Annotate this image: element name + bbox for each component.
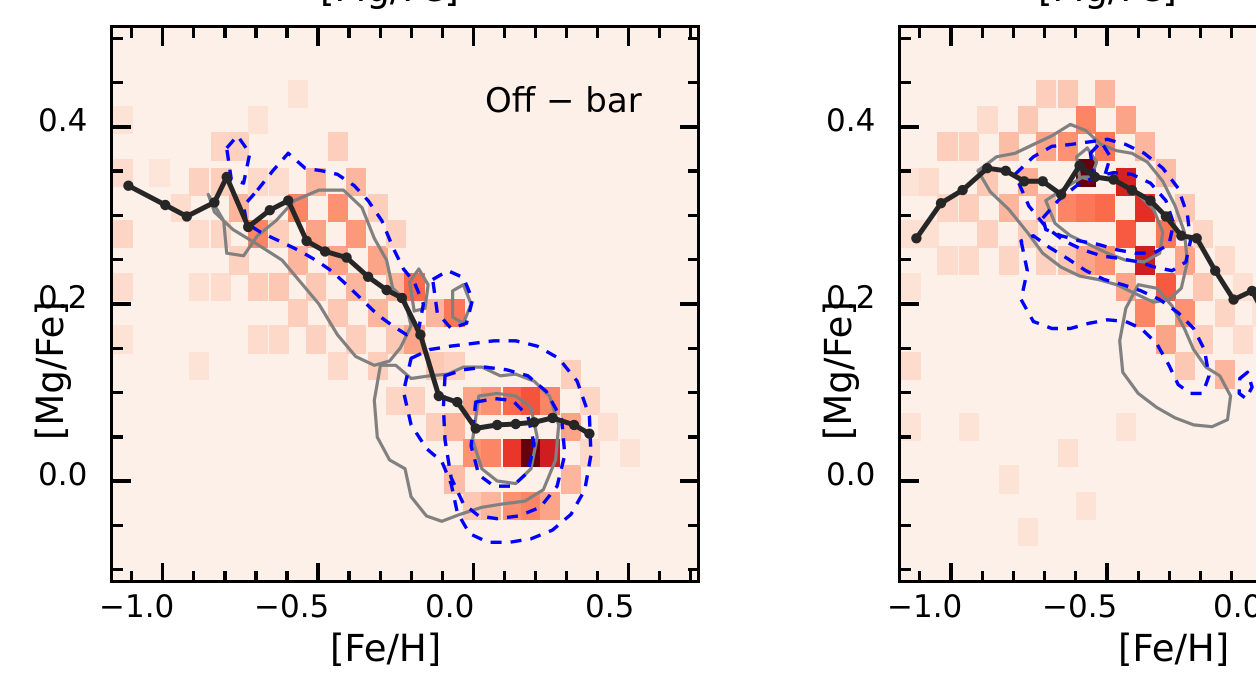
median-marker xyxy=(936,198,946,208)
xtick xyxy=(379,571,382,582)
contour-dashed xyxy=(1239,372,1252,398)
xtick-top xyxy=(347,27,350,38)
ytick xyxy=(900,37,911,40)
xtick xyxy=(534,571,537,582)
xtick-top xyxy=(1074,27,1077,38)
ytick-right xyxy=(688,258,699,261)
median-marker xyxy=(1127,185,1137,195)
xtick-top xyxy=(1199,27,1202,38)
median-marker xyxy=(434,391,444,401)
median-marker xyxy=(492,420,502,430)
ytick xyxy=(112,169,123,172)
ytick-right xyxy=(688,391,699,394)
median-marker xyxy=(397,293,407,303)
ytick-right xyxy=(688,568,699,571)
median-marker xyxy=(584,429,594,439)
ytick-right xyxy=(688,81,699,84)
xtick xyxy=(689,571,692,582)
left-xaxis-title: [Fe/H] xyxy=(330,630,441,667)
xtick-top xyxy=(658,27,661,38)
contour-dashed xyxy=(244,153,424,334)
ytick xyxy=(112,125,131,128)
ytick xyxy=(900,214,911,217)
ytick xyxy=(900,568,911,571)
left-xtick-label-2: 0.0 xyxy=(425,592,474,623)
ytick-right xyxy=(680,302,699,305)
xtick-top xyxy=(441,27,444,38)
xtick-top xyxy=(534,27,537,38)
xtick-top xyxy=(1230,27,1233,38)
ytick-right xyxy=(680,125,699,128)
ytick xyxy=(112,81,123,84)
ytick xyxy=(112,435,123,438)
xtick xyxy=(658,571,661,582)
xtick xyxy=(981,571,984,582)
ytick xyxy=(112,568,123,571)
median-marker xyxy=(1176,231,1186,241)
right-overlay xyxy=(901,28,1256,580)
xtick xyxy=(192,571,195,582)
median-marker xyxy=(1108,174,1118,184)
median-marker xyxy=(123,181,133,191)
xtick-top xyxy=(161,27,164,46)
median-marker xyxy=(452,397,462,407)
xtick xyxy=(161,563,164,582)
ytick xyxy=(112,479,131,482)
ytick xyxy=(900,258,911,261)
left-ytick-label-2: 0.0 xyxy=(38,460,87,491)
xtick-top xyxy=(918,27,921,38)
xtick xyxy=(316,563,319,582)
xtick xyxy=(1137,571,1140,582)
xtick-top xyxy=(596,27,599,38)
xtick xyxy=(627,563,630,582)
ytick xyxy=(900,391,911,394)
ytick xyxy=(900,479,919,482)
median-marker xyxy=(529,417,539,427)
right-yaxis-title: [Mg/Fe] xyxy=(820,301,857,440)
median-marker xyxy=(341,252,351,262)
right-axes xyxy=(898,25,1256,583)
median-marker xyxy=(415,330,425,340)
median-marker xyxy=(1019,176,1029,186)
ytick xyxy=(900,524,911,527)
xtick-top xyxy=(285,27,288,38)
median-marker xyxy=(569,420,579,430)
ytick-right xyxy=(688,435,699,438)
xtick xyxy=(1012,571,1015,582)
median-marker xyxy=(283,195,293,205)
xtick xyxy=(1074,571,1077,582)
left-yaxis-title: [Mg/Fe] xyxy=(32,301,69,440)
median-marker xyxy=(301,236,311,246)
ytick xyxy=(900,435,911,438)
median-line xyxy=(128,177,589,434)
ytick-right xyxy=(688,37,699,40)
median-marker xyxy=(1192,233,1202,243)
ytick xyxy=(112,347,123,350)
median-marker xyxy=(1074,160,1084,170)
contour-solid xyxy=(374,365,558,521)
ytick xyxy=(112,258,123,261)
xtick-top xyxy=(254,27,257,38)
xtick xyxy=(347,571,350,582)
ytick xyxy=(112,214,123,217)
xtick-top xyxy=(1012,27,1015,38)
right-xtick-label-0: −1.0 xyxy=(887,592,962,623)
ytick xyxy=(112,524,123,527)
median-marker xyxy=(511,419,521,429)
median-marker xyxy=(1056,189,1066,199)
median-marker xyxy=(1038,176,1048,186)
xtick-top xyxy=(981,27,984,38)
xtick-top xyxy=(1137,27,1140,38)
xtick-top xyxy=(1105,27,1108,46)
right-panel: [Mg/Fe] 0.4 0.2 0.0 −1.0 −0.5 0.0 [Fe/H]… xyxy=(788,0,1256,684)
median-marker xyxy=(957,185,967,195)
ytick xyxy=(900,125,919,128)
xtick xyxy=(285,571,288,582)
ytick-right xyxy=(688,524,699,527)
median-line xyxy=(916,166,1256,348)
xtick xyxy=(472,563,475,582)
xtick-top xyxy=(627,27,630,46)
ytick xyxy=(900,302,919,305)
xtick-top xyxy=(410,27,413,38)
left-xtick-label-1: −0.5 xyxy=(254,592,329,623)
xtick-top xyxy=(192,27,195,38)
xtick-top xyxy=(223,27,226,38)
xtick-top xyxy=(472,27,475,46)
right-xtick-label-1: −0.5 xyxy=(1042,592,1117,623)
median-marker xyxy=(1228,294,1238,304)
xtick xyxy=(410,571,413,582)
ytick xyxy=(112,37,123,40)
xtick xyxy=(130,571,133,582)
xtick xyxy=(565,571,568,582)
median-marker xyxy=(982,163,992,173)
right-suptitle-fragment: [Mg/Fe] xyxy=(1038,0,1218,9)
median-marker xyxy=(209,197,219,207)
ytick-right xyxy=(680,479,699,482)
ytick xyxy=(900,169,911,172)
left-annotation-off-bar: Off − bar xyxy=(485,84,642,118)
xtick xyxy=(1105,563,1108,582)
ytick-right xyxy=(688,214,699,217)
ytick xyxy=(112,391,123,394)
left-xtick-label-0: −1.0 xyxy=(99,592,174,623)
xtick-top xyxy=(949,27,952,46)
xtick-top xyxy=(316,27,319,46)
median-marker xyxy=(1001,166,1011,176)
median-marker xyxy=(265,205,275,215)
contour-dashed xyxy=(443,367,564,519)
right-ytick-label-0: 0.4 xyxy=(826,106,875,137)
right-xaxis-title: [Fe/H] xyxy=(1118,630,1229,667)
contour-solid xyxy=(473,393,538,483)
xtick xyxy=(254,571,257,582)
xtick xyxy=(1168,571,1171,582)
figure-canvas: [Mg/Fe] Off − bar 0.4 0.2 0.0 −1.0 −0.5 … xyxy=(0,0,1256,684)
xtick-top xyxy=(565,27,568,38)
ytick xyxy=(112,302,131,305)
ytick xyxy=(900,347,911,350)
xtick xyxy=(596,571,599,582)
median-marker xyxy=(911,233,921,243)
median-marker xyxy=(1210,266,1220,276)
xtick xyxy=(1230,571,1233,582)
xtick-top xyxy=(379,27,382,38)
left-ytick-label-0: 0.4 xyxy=(38,106,87,137)
xtick-top xyxy=(503,27,506,38)
left-suptitle-fragment: [Mg/Fe] xyxy=(320,0,500,9)
xtick xyxy=(223,571,226,582)
contour-solid xyxy=(1120,285,1231,427)
left-panel: [Mg/Fe] Off − bar 0.4 0.2 0.0 −1.0 −0.5 … xyxy=(0,0,760,684)
right-ytick-label-2: 0.0 xyxy=(826,460,875,491)
median-marker xyxy=(381,285,391,295)
xtick-top xyxy=(1168,27,1171,38)
ytick-right xyxy=(688,347,699,350)
median-marker xyxy=(471,423,481,433)
ytick xyxy=(900,81,911,84)
xtick-top xyxy=(130,27,133,38)
median-marker xyxy=(1145,195,1155,205)
median-marker xyxy=(547,413,557,423)
median-marker xyxy=(222,172,232,182)
left-xtick-label-3: 0.5 xyxy=(585,592,634,623)
xtick xyxy=(503,571,506,582)
xtick xyxy=(1199,571,1202,582)
xtick-top xyxy=(1043,27,1046,38)
xtick xyxy=(918,571,921,582)
xtick xyxy=(1043,571,1046,582)
ytick-right xyxy=(688,169,699,172)
xtick xyxy=(949,563,952,582)
median-marker xyxy=(1090,172,1100,182)
median-marker xyxy=(182,211,192,221)
median-marker xyxy=(320,246,330,256)
median-marker xyxy=(160,200,170,210)
right-xtick-label-2: 0.0 xyxy=(1213,592,1256,623)
median-marker xyxy=(1161,211,1171,221)
xtick xyxy=(441,571,444,582)
median-marker xyxy=(243,222,253,232)
median-marker xyxy=(363,272,373,282)
